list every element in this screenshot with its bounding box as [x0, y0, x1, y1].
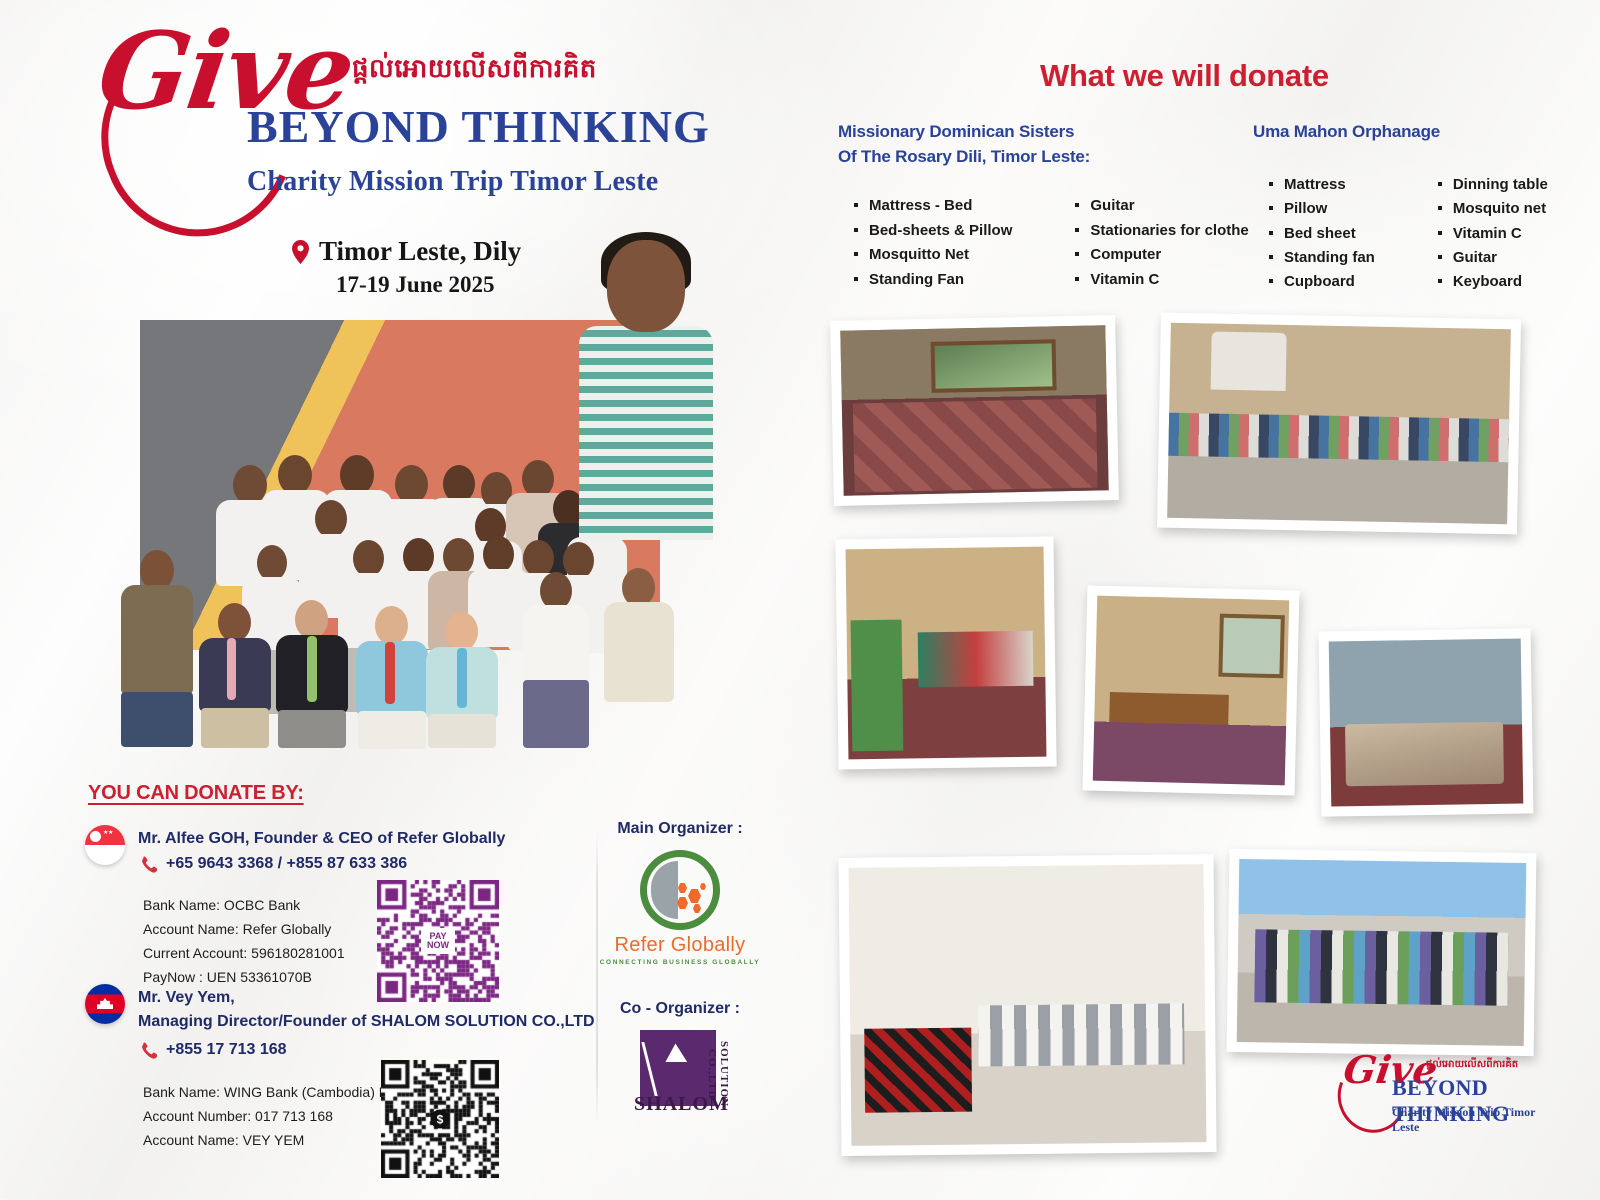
donor-phone-row[interactable]: +855 17 713 168	[140, 1041, 287, 1059]
wing-bank-qr-code[interactable]: $	[381, 1060, 499, 1178]
mattress-photo	[1319, 628, 1534, 816]
bank-line: Bank Name: OCBC Bank	[143, 893, 345, 917]
beyond-thinking-title: BEYOND THINKING	[247, 104, 710, 150]
donor-block-vey-yem: Mr. Vey Yem, Managing Director/Founder o…	[85, 984, 585, 1134]
list-item: Dinning table	[1435, 173, 1548, 197]
donor-name-line2: Managing Director/Founder of SHALOM SOLU…	[138, 1010, 595, 1034]
list-item: Computer	[1072, 243, 1248, 267]
phone-icon	[140, 856, 157, 873]
location-text: Timor Leste, Dily	[319, 236, 521, 267]
list-item: Guitar	[1435, 246, 1548, 270]
list-item: Stationaries for clothe	[1072, 219, 1248, 243]
donor-name-line1: Mr. Vey Yem,	[138, 986, 595, 1010]
donate-by-heading: YOU CAN DONATE BY:	[88, 782, 304, 805]
list-item: Guitar	[1072, 194, 1248, 218]
list-item: Cupboard	[1266, 270, 1375, 294]
refer-globally-name: Refer Globally	[570, 934, 790, 957]
refer-globally-tagline: CONNECTING BUSINESS GLOBALLY	[570, 959, 790, 966]
donor-bank-details: Bank Name: WING Bank (Cambodia) Plc Acco…	[143, 1080, 398, 1152]
list-item: Vitamin C	[1072, 268, 1248, 292]
page-subtitle: Charity Mission Trip Timor Leste	[247, 166, 658, 198]
hero-group-photo	[85, 300, 735, 745]
hall-meeting-photo	[838, 854, 1216, 1156]
donor-bank-details: Bank Name: OCBC Bank Account Name: Refer…	[143, 893, 345, 989]
bank-line: Account Name: Refer Globally	[143, 917, 345, 941]
donate-heading: What we will donate	[1040, 58, 1329, 94]
phone-icon	[140, 1042, 157, 1059]
bank-line: Current Account: 596180281001	[143, 941, 345, 965]
donor-phone-number: +65 9643 3368 / +855 87 633 386	[166, 855, 407, 873]
list-item: Pillow	[1266, 197, 1375, 221]
featured-woman-cutout	[565, 240, 725, 540]
donate-group-missionary-dominican-sisters: Missionary Dominican Sisters Of The Rosa…	[838, 120, 1249, 292]
list-item: Vitamin C	[1435, 222, 1548, 246]
event-date: 17-19 June 2025	[336, 272, 494, 298]
location-pin-icon	[292, 240, 309, 264]
group-title-line1: Uma Mahon Orphanage	[1253, 120, 1548, 145]
donate-column-2: Guitar Stationaries for clothe Computer …	[1072, 194, 1248, 292]
footer-subtitle: Charity Mission Trip Timor Leste	[1392, 1105, 1560, 1135]
bank-line: Account Number: 017 713 168	[143, 1104, 398, 1128]
donor-phone-number: +855 17 713 168	[166, 1041, 287, 1059]
shalom-vertical-text: SOLUTION CO.,LTD	[706, 1034, 730, 1114]
list-item: Bed-sheets & Pillow	[851, 219, 1012, 243]
mattress-photo-image	[1329, 639, 1524, 807]
network-dots-icon	[676, 882, 710, 916]
donate-item-columns: Mattress - Bed Bed-sheets & Pillow Mosqu…	[851, 194, 1249, 292]
list-item: Mattress	[1266, 173, 1375, 197]
donor-block-alfee-goh: Mr. Alfee GOH, Founder & CEO of Refer Gl…	[85, 825, 585, 975]
singapore-flag-icon	[85, 825, 125, 865]
donate-group-uma-mahon-orphanage: Uma Mahon Orphanage Mattress Pillow Bed …	[1253, 120, 1548, 295]
table-room-photo-image	[1093, 596, 1289, 786]
main-organizer-block: Main Organizer : Refer Globally CONNECTI…	[570, 820, 790, 966]
group-title-line1: Missionary Dominican Sisters	[838, 120, 1249, 145]
wing-dollar-badge: $	[431, 1110, 450, 1129]
kitchen-photo	[830, 315, 1119, 506]
table-room-photo	[1083, 585, 1300, 795]
list-item: Mattress - Bed	[851, 194, 1012, 218]
list-item: Keyboard	[1435, 270, 1548, 294]
hall-meeting-photo-image	[849, 864, 1207, 1146]
dormitory-photo-image	[846, 547, 1047, 760]
kitchen-photo-image	[840, 325, 1108, 496]
donor-name: Mr. Alfee GOH, Founder & CEO of Refer Gl…	[138, 827, 505, 851]
donate-column-1: Mattress Pillow Bed sheet Standing fan C…	[1266, 173, 1375, 295]
paynow-badge: PAYNOW	[421, 928, 455, 954]
footer-khmer-tagline: ផ្តល់អោយលើសពីការគិត	[1426, 1057, 1518, 1072]
donor-name: Mr. Vey Yem, Managing Director/Founder o…	[138, 986, 595, 1035]
donate-column-2: Dinning table Mosquito net Vitamin C Gui…	[1435, 173, 1548, 295]
main-organizer-label: Main Organizer :	[570, 820, 790, 838]
co-organizer-block: Co - Organizer : SHALOM SOLUTION CO.,LTD	[570, 1000, 790, 1114]
group-title-line2: Of The Rosary Dili, Timor Leste:	[838, 145, 1249, 170]
footer-brand: Give ផ្តល់អោយលើសពីការគិត BEYOND THINKING…	[1330, 1053, 1560, 1145]
list-item: Standing fan	[1266, 246, 1375, 270]
dormitory-photo	[835, 536, 1056, 769]
handover-photo	[1227, 849, 1537, 1056]
group-outside-photo	[1157, 313, 1521, 535]
cambodia-flag-icon	[85, 984, 125, 1024]
donate-column-1: Mattress - Bed Bed-sheets & Pillow Mosqu…	[851, 194, 1012, 292]
group-outside-photo-image	[1167, 323, 1511, 524]
handover-photo-image	[1237, 859, 1527, 1046]
shalom-solution-logo: SHALOM SOLUTION CO.,LTD	[632, 1030, 728, 1114]
co-organizer-label: Co - Organizer :	[570, 1000, 790, 1018]
list-item: Mosquito net	[1435, 197, 1548, 221]
bank-line: Bank Name: WING Bank (Cambodia) Plc	[143, 1080, 398, 1104]
donor-phone-row[interactable]: +65 9643 3368 / +855 87 633 386	[140, 855, 407, 873]
list-item: Standing Fan	[851, 268, 1012, 292]
list-item: Mosquitto Net	[851, 243, 1012, 267]
khmer-tagline: ផ្តល់អោយលើសពីការគិត	[352, 52, 597, 90]
bank-line: Account Name: VEY YEM	[143, 1128, 398, 1152]
location-row: Timor Leste, Dily	[292, 236, 521, 267]
donate-item-columns: Mattress Pillow Bed sheet Standing fan C…	[1266, 173, 1548, 295]
list-item: Bed sheet	[1266, 222, 1375, 246]
refer-globally-logo	[640, 850, 720, 930]
